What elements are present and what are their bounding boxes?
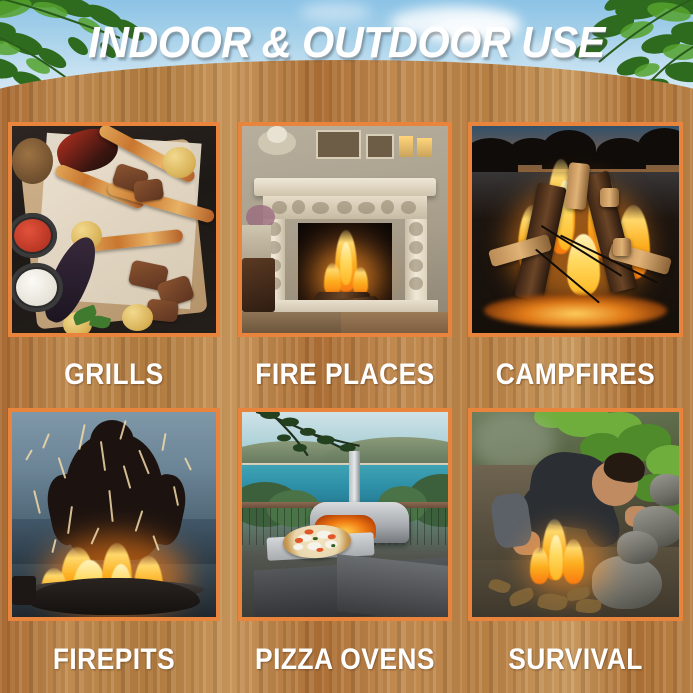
feature-cell-firepits[interactable] bbox=[8, 408, 220, 621]
page-title: INDOOR & OUTDOOR USE bbox=[21, 18, 672, 68]
feature-label-grills: GRILLS bbox=[21, 358, 208, 392]
feature-label-survival: SURVIVAL bbox=[481, 643, 670, 677]
campfires-photo bbox=[468, 122, 683, 337]
survival-photo bbox=[468, 408, 683, 621]
feature-cell-pizza-ovens[interactable] bbox=[238, 408, 452, 621]
feature-cell-fire-places[interactable] bbox=[238, 122, 452, 337]
grills-photo bbox=[8, 122, 220, 337]
feature-label-pizza-ovens: PIZZA OVENS bbox=[251, 643, 439, 677]
firepits-photo bbox=[8, 408, 220, 621]
feature-cell-campfires[interactable] bbox=[468, 122, 683, 337]
feature-label-firepits: FIREPITS bbox=[21, 643, 208, 677]
product-feature-poster: INDOOR & OUTDOOR USE bbox=[0, 0, 693, 693]
feature-label-campfires: CAMPFIRES bbox=[481, 358, 670, 392]
pizza-ovens-photo bbox=[238, 408, 452, 621]
feature-grid: GRILLS bbox=[0, 0, 693, 693]
feature-cell-survival[interactable] bbox=[468, 408, 683, 621]
feature-cell-grills[interactable] bbox=[8, 122, 220, 337]
feature-label-fire-places: FIRE PLACES bbox=[251, 358, 439, 392]
fire-places-photo bbox=[238, 122, 452, 337]
